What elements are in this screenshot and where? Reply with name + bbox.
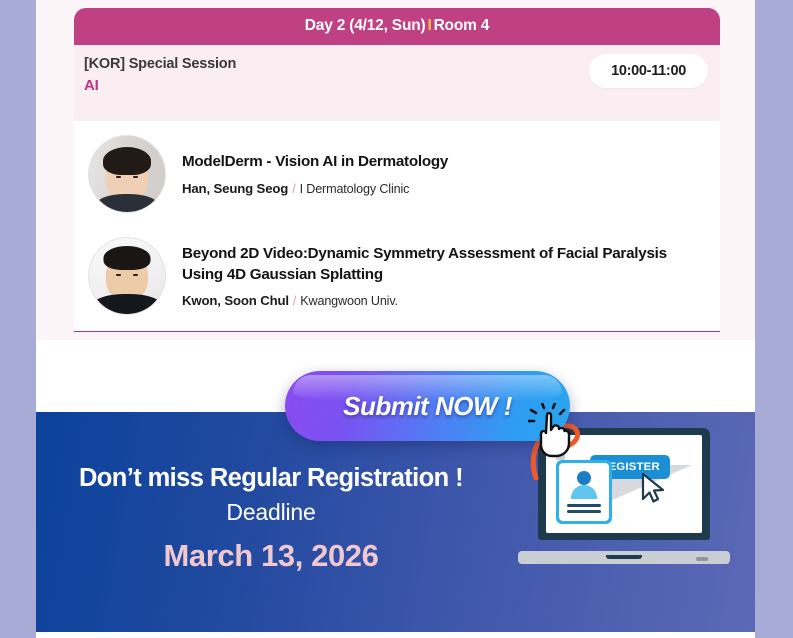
speaker-name: Han, Seung Seog <box>182 181 288 196</box>
bottom-white-sliver <box>36 632 755 638</box>
talk-row[interactable]: Beyond 2D Video:Dynamic Symmetry Assessm… <box>74 225 720 327</box>
session-card: Day 2 (4/12, Sun)IRoom 4 [KOR] Special S… <box>74 8 720 332</box>
arrow-cursor-icon <box>640 472 666 504</box>
page-root: Day 2 (4/12, Sun)IRoom 4 [KOR] Special S… <box>0 0 793 638</box>
talk-author-line: Han, Seung Seog/I Dermatology Clinic <box>182 181 706 196</box>
left-margin-strip <box>0 0 36 638</box>
author-separator: / <box>289 294 300 308</box>
talk-title: ModelDerm - Vision AI in Dermatology <box>182 152 706 172</box>
talk-row[interactable]: ModelDerm - Vision AI in Dermatology Han… <box>74 123 720 225</box>
speaker-affiliation: Kwangwoon Univ. <box>300 294 398 308</box>
promo-headline: Don’t miss Regular Registration ! <box>36 464 506 492</box>
talk-author-line: Kwon, Soon Chul/Kwangwoon Univ. <box>182 293 706 308</box>
session-area: Day 2 (4/12, Sun)IRoom 4 [KOR] Special S… <box>36 0 755 340</box>
session-header-bar: Day 2 (4/12, Sun)IRoom 4 <box>74 8 720 45</box>
registration-promo-banner[interactable]: Don’t miss Regular Registration ! Deadli… <box>36 412 755 632</box>
submit-now-button[interactable]: Submit NOW ! <box>285 371 570 441</box>
speaker-name: Kwon, Soon Chul <box>182 293 289 308</box>
laptop-foot <box>696 557 708 561</box>
session-time-badge: 10:00-11:00 <box>589 54 708 88</box>
promo-deadline-date: March 13, 2026 <box>36 538 506 574</box>
session-room-label: Room 4 <box>434 17 490 34</box>
session-day-label: Day 2 (4/12, Sun) <box>305 17 426 34</box>
submit-now-area: Submit NOW ! <box>285 371 570 441</box>
session-header-separator: I <box>425 17 433 34</box>
id-badge-card <box>556 460 612 524</box>
speaker-avatar <box>88 135 166 213</box>
session-meta: [KOR] Special Session AI 10:00-11:00 <box>74 45 720 121</box>
speaker-avatar <box>88 237 166 315</box>
laptop-notch <box>606 555 642 559</box>
right-margin-strip <box>755 0 793 638</box>
talk-list: ModelDerm - Vision AI in Dermatology Han… <box>74 121 720 332</box>
talk-title: Beyond 2D Video:Dynamic Symmetry Assessm… <box>182 244 706 284</box>
author-separator: / <box>288 182 299 196</box>
promo-text-block: Don’t miss Regular Registration ! Deadli… <box>36 464 506 574</box>
promo-subline: Deadline <box>36 499 506 526</box>
speaker-affiliation: I Dermatology Clinic <box>300 182 410 196</box>
talk-text: Beyond 2D Video:Dynamic Symmetry Assessm… <box>182 244 706 307</box>
content-column: Day 2 (4/12, Sun)IRoom 4 [KOR] Special S… <box>36 0 755 638</box>
talk-text: ModelDerm - Vision AI in Dermatology Han… <box>182 152 706 195</box>
laptop-registration-illustration: REGISTER <box>518 422 730 572</box>
